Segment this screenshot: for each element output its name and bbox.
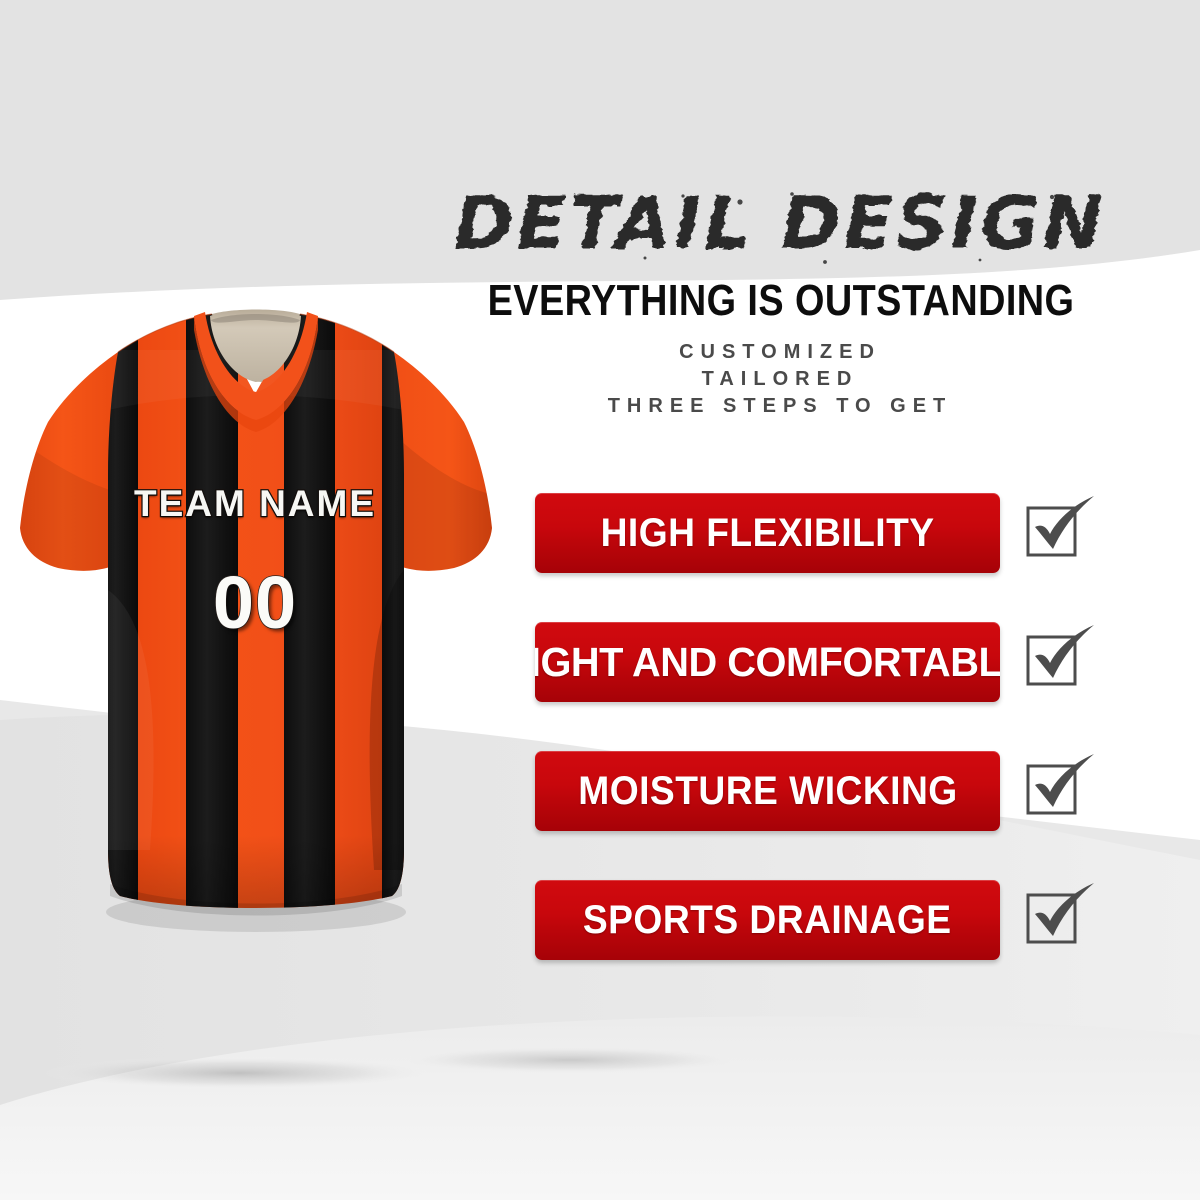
feature-row: LIGHT AND COMFORTABLE (535, 622, 1155, 702)
page-subtitle: EVERYTHING IS OUTSTANDING (488, 276, 1073, 326)
jersey-illustration (0, 290, 510, 950)
page-title-brush-text: DETAIL DESIGN (440, 178, 1120, 270)
tagline-3: THREE STEPS TO GET (440, 393, 1120, 420)
feature-label: HIGH FLEXIBILITY (601, 511, 935, 556)
check-box-icon (1026, 753, 1098, 815)
svg-text:DETAIL DESIGN: DETAIL DESIGN (454, 181, 1106, 265)
check-box-icon (1026, 624, 1098, 686)
tagline-1: CUSTOMIZED (440, 339, 1120, 366)
floor-shadow-left (40, 1056, 440, 1090)
product-detail-banner: TEAM NAME 00 DETAIL DESIGN (0, 0, 1200, 1200)
floor-shadow-right (390, 1046, 750, 1074)
feature-row: HIGH FLEXIBILITY (535, 493, 1155, 573)
feature-bar-sports-drainage[interactable]: SPORTS DRAINAGE (535, 880, 1000, 960)
feature-bar-light-and-comfortable[interactable]: LIGHT AND COMFORTABLE (535, 622, 1000, 702)
feature-label: MOISTURE WICKING (578, 769, 957, 814)
page-title: DETAIL DESIGN (440, 178, 1120, 270)
feature-bar-high-flexibility[interactable]: HIGH FLEXIBILITY (535, 493, 1000, 573)
tagline-2: TAILORED (440, 366, 1120, 393)
feature-label: LIGHT AND COMFORTABLE (535, 639, 1000, 686)
feature-row: MOISTURE WICKING (535, 751, 1155, 831)
feature-bar-moisture-wicking[interactable]: MOISTURE WICKING (535, 751, 1000, 831)
feature-label: SPORTS DRAINAGE (583, 898, 952, 943)
feature-list: HIGH FLEXIBILITY LIGHT AND COMFORTABLE (535, 493, 1155, 1009)
jersey-body (100, 290, 414, 950)
tagline-block: CUSTOMIZED TAILORED THREE STEPS TO GET (440, 339, 1120, 420)
check-box-icon (1026, 495, 1098, 557)
feature-row: SPORTS DRAINAGE (535, 880, 1155, 960)
check-box-icon (1026, 882, 1098, 944)
jersey-product-image: TEAM NAME 00 (0, 290, 510, 950)
